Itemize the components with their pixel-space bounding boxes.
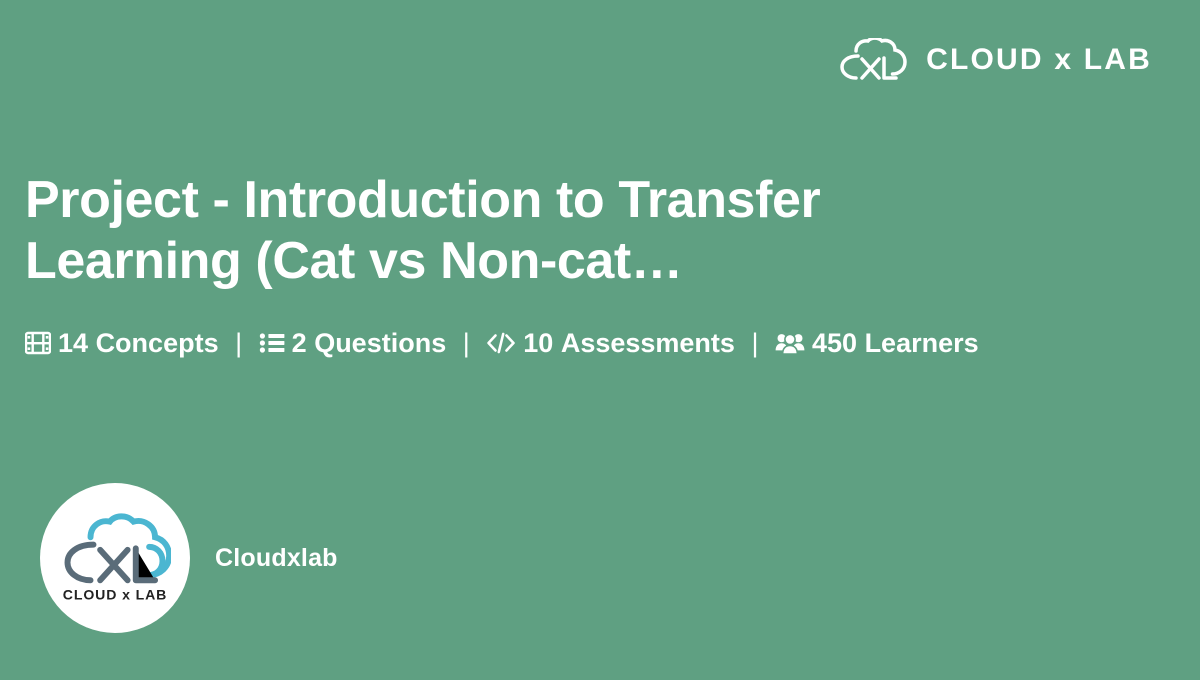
cloudxlab-cloud-icon <box>836 38 908 82</box>
stat-separator: | <box>454 323 479 365</box>
author-name[interactable]: Cloudxlab <box>215 544 338 573</box>
stat-concepts: 14 Concepts <box>25 328 226 358</box>
stat-questions-label: Questions <box>314 328 446 358</box>
stat-concepts-label: Concepts <box>96 328 219 358</box>
stat-learners-value: 450 <box>812 328 857 358</box>
stat-assessments-value: 10 <box>523 328 553 358</box>
stat-questions-value: 2 <box>292 328 307 358</box>
course-stats: 14 Concepts | 2 Questions | <box>25 323 1115 368</box>
author-row[interactable]: CLOUD x LAB Cloudxlab <box>40 483 338 633</box>
cloudxlab-logo-avatar: CLOUD x LAB <box>59 512 171 604</box>
stat-separator: | <box>742 323 767 365</box>
course-banner: CLOUD x LAB Project - Introduction to Tr… <box>0 0 1200 680</box>
users-icon <box>775 326 805 368</box>
page-title-line-1: Project - Introduction to Transfer <box>25 171 820 229</box>
stat-assessments: 10 Assessments <box>486 328 742 358</box>
stat-learners-label: Learners <box>865 328 979 358</box>
brand-name: CLOUD x LAB <box>926 45 1152 75</box>
stat-separator: | <box>226 323 251 365</box>
stat-questions: 2 Questions <box>259 328 454 358</box>
stat-learners: 450 Learners <box>775 328 979 358</box>
page-title: Project - Introduction to Transfer Learn… <box>25 170 1145 293</box>
code-icon <box>486 326 516 368</box>
list-icon <box>259 326 285 368</box>
avatar-wordmark: CLOUD x LAB <box>63 587 167 603</box>
brand-logo[interactable]: CLOUD x LAB <box>836 38 1152 82</box>
avatar[interactable]: CLOUD x LAB <box>40 483 190 633</box>
page-title-line-2: Learning (Cat vs Non-cat… <box>25 232 682 290</box>
stat-assessments-label: Assessments <box>561 328 735 358</box>
stat-concepts-value: 14 <box>58 328 88 358</box>
film-icon <box>25 326 51 368</box>
